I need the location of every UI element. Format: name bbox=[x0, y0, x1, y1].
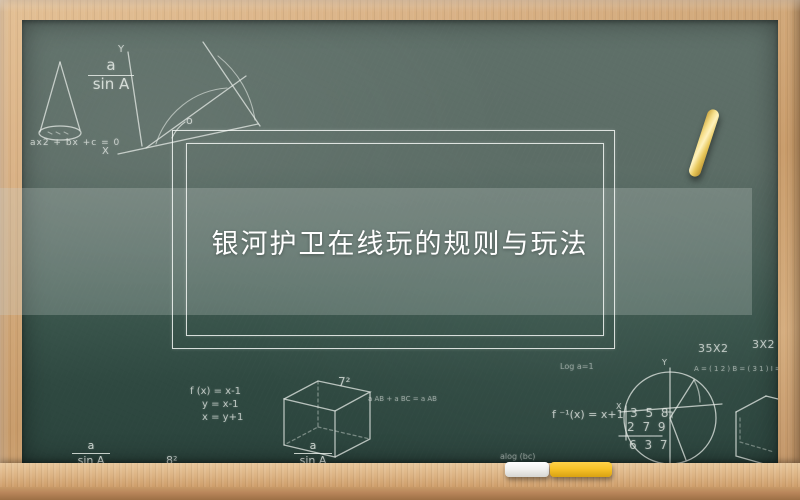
chalk-long-division-row-2: 2 7 9 bbox=[627, 420, 668, 434]
chalkboard-title-card: a sin A ax2 + bx +c = 0 Y X o f (x) = x-… bbox=[0, 0, 800, 500]
chalk-matrix-dimension-left: 35X2 bbox=[698, 342, 729, 355]
chalk-axis-label-y-top: Y bbox=[118, 44, 124, 55]
chalk-matrix-dimension-right: 3X2 bbox=[752, 338, 775, 351]
chalk-log-product-rule: alog (bc) bbox=[500, 452, 535, 461]
ledge-lip bbox=[0, 487, 800, 500]
chalk-axis-label-x-top: X bbox=[102, 146, 109, 157]
chalk-matrix-definitions: A = ( 1 2 ) B = ( 3 1 ) I = ( 1 0 ) bbox=[694, 365, 778, 373]
chalk-exponent-7-squared: 7² bbox=[338, 375, 350, 389]
chalk-inverse-function: f ⁻¹(x) = x+1 bbox=[552, 408, 624, 421]
chalk-axis-label-x-right: X bbox=[616, 402, 621, 411]
yellow-chalk-stick bbox=[687, 108, 720, 178]
cone-diagram bbox=[39, 62, 81, 140]
board-eraser bbox=[505, 462, 549, 477]
chalk-fraction-a-over-sinA-left: a sin A bbox=[72, 440, 110, 463]
chalk-vector-sum: a AB + a BC = a AB bbox=[368, 395, 437, 403]
chalk-function-line-1: f (x) = x-1 bbox=[190, 386, 241, 397]
chalk-long-division-row-1: 3 5 8 bbox=[630, 406, 671, 420]
chalk-fraction-a-over-sinA-top: a sin A bbox=[88, 58, 134, 93]
chalk-axis-label-y-right: Y bbox=[662, 358, 667, 367]
chalk-function-line-2: y = x-1 bbox=[202, 399, 239, 410]
chalk-exponent-8-squared: 8² bbox=[166, 454, 177, 463]
chalk-long-division-result: 6 3 7 bbox=[629, 438, 670, 452]
chalk-function-line-3: x = y+1 bbox=[202, 412, 243, 423]
ledge-chalk-piece bbox=[550, 462, 612, 477]
page-title: 银河护卫在线玩的规则与玩法 bbox=[0, 222, 800, 261]
chalk-angle-label-top: o bbox=[186, 114, 193, 127]
cube-diagram-right bbox=[736, 396, 778, 463]
chalk-fraction-a-over-sinA-center: a sin A bbox=[294, 440, 332, 463]
chalk-log-note: Log a=1 bbox=[560, 362, 594, 371]
